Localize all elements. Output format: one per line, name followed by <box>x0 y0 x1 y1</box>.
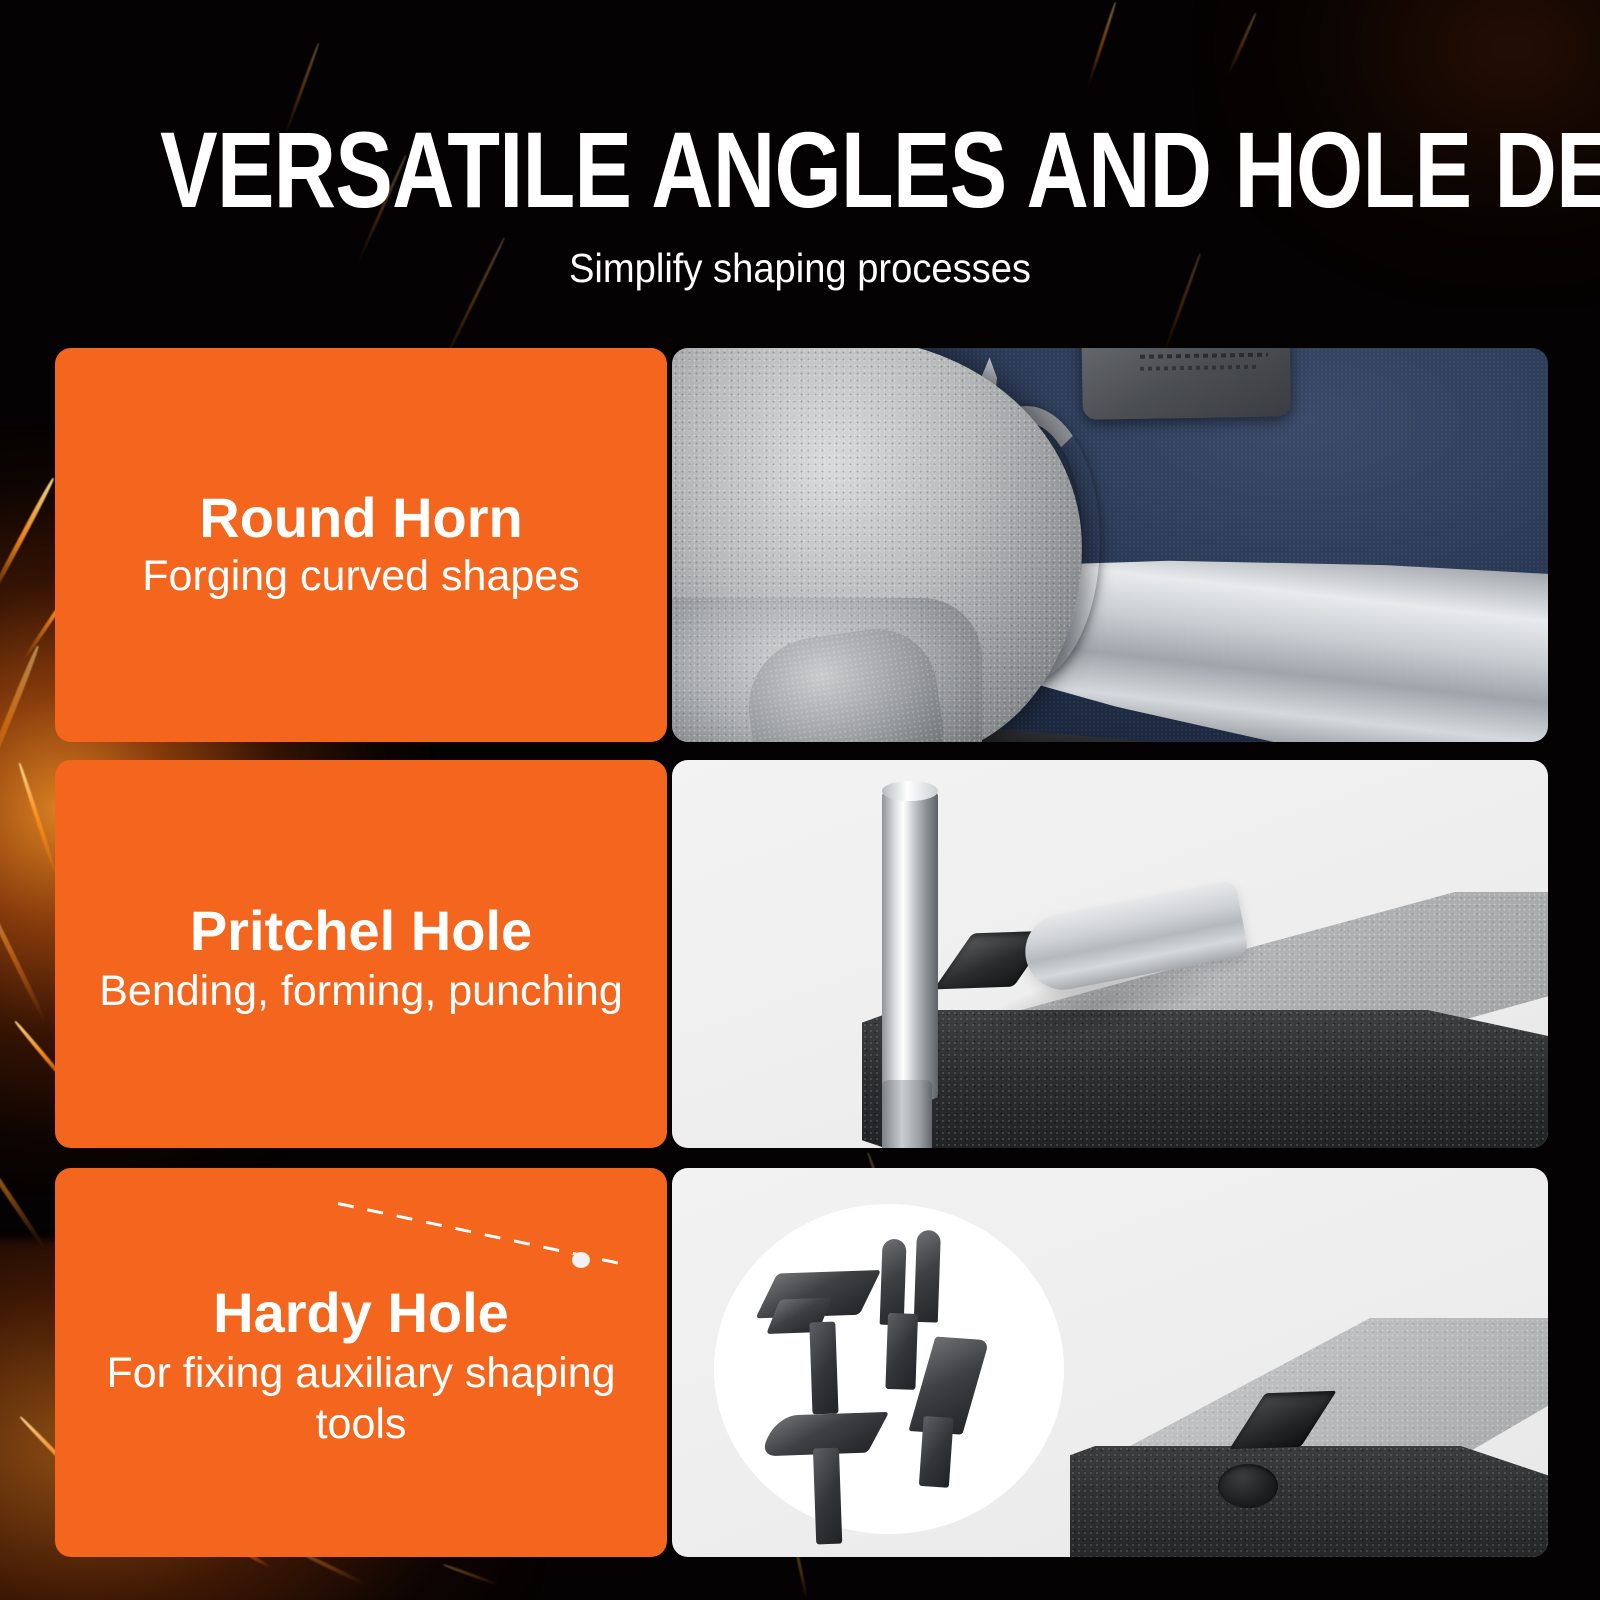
anvil-stamp-code: 1280 <box>1159 348 1236 350</box>
feature-row-hardy-hole: Hardy Hole For fixing auxiliary shaping … <box>55 1168 1548 1557</box>
page-subtitle: Simplify shaping processes <box>56 248 1544 289</box>
feature-heading: Round Horn <box>199 488 522 547</box>
feature-card-pritchel-hole[interactable]: Pritchel Hole Bending, forming, punching <box>55 760 667 1148</box>
tool-shank <box>809 1322 838 1415</box>
anvil-stamp-plate: 1280 <box>1081 348 1291 420</box>
hardy-tool-bending-fork <box>768 1412 888 1546</box>
steel-rod-top <box>882 781 938 801</box>
steel-rod-lower <box>882 1080 932 1148</box>
callout-endpoint <box>572 1252 590 1268</box>
feature-row-round-horn: Round Horn Forging curved shapes 1280 <box>55 348 1548 742</box>
anvil-stamp-fineprint <box>1140 353 1268 359</box>
anvil-side <box>862 1010 1548 1148</box>
feature-heading: Hardy Hole <box>213 1283 509 1342</box>
feature-description: For fixing auxiliary shaping tools <box>81 1348 641 1449</box>
hardy-tool-cutoff <box>905 1335 1001 1491</box>
steel-rod <box>882 790 938 1100</box>
tool-shank <box>813 1448 842 1545</box>
pritchel-hole-opening <box>1218 1464 1278 1508</box>
feature-photo-hardy-hole <box>672 1168 1548 1557</box>
header: VERSATILE ANGLES AND HOLE DESIGN Simplif… <box>0 0 1600 330</box>
feature-description: Bending, forming, punching <box>99 966 623 1017</box>
hardy-tool-swage <box>766 1270 881 1414</box>
feature-card-round-horn[interactable]: Round Horn Forging curved shapes <box>55 348 667 742</box>
anvil-heel <box>1070 1318 1548 1557</box>
anvil-stamp-fineprint <box>1140 365 1258 371</box>
feature-heading: Pritchel Hole <box>190 901 532 960</box>
anvil-side <box>1070 1446 1548 1557</box>
feature-row-pritchel-hole: Pritchel Hole Bending, forming, punching <box>55 760 1548 1148</box>
feature-card-hardy-hole[interactable]: Hardy Hole For fixing auxiliary shaping … <box>55 1168 667 1557</box>
page-title: VERSATILE ANGLES AND HOLE DESIGN <box>160 116 1440 224</box>
feature-description: Forging curved shapes <box>142 551 579 602</box>
feature-photo-pritchel-hole <box>672 760 1548 1148</box>
feature-photo-round-horn: 1280 <box>672 348 1548 742</box>
tool-prong-right <box>914 1230 941 1323</box>
tool-shank <box>919 1416 954 1488</box>
